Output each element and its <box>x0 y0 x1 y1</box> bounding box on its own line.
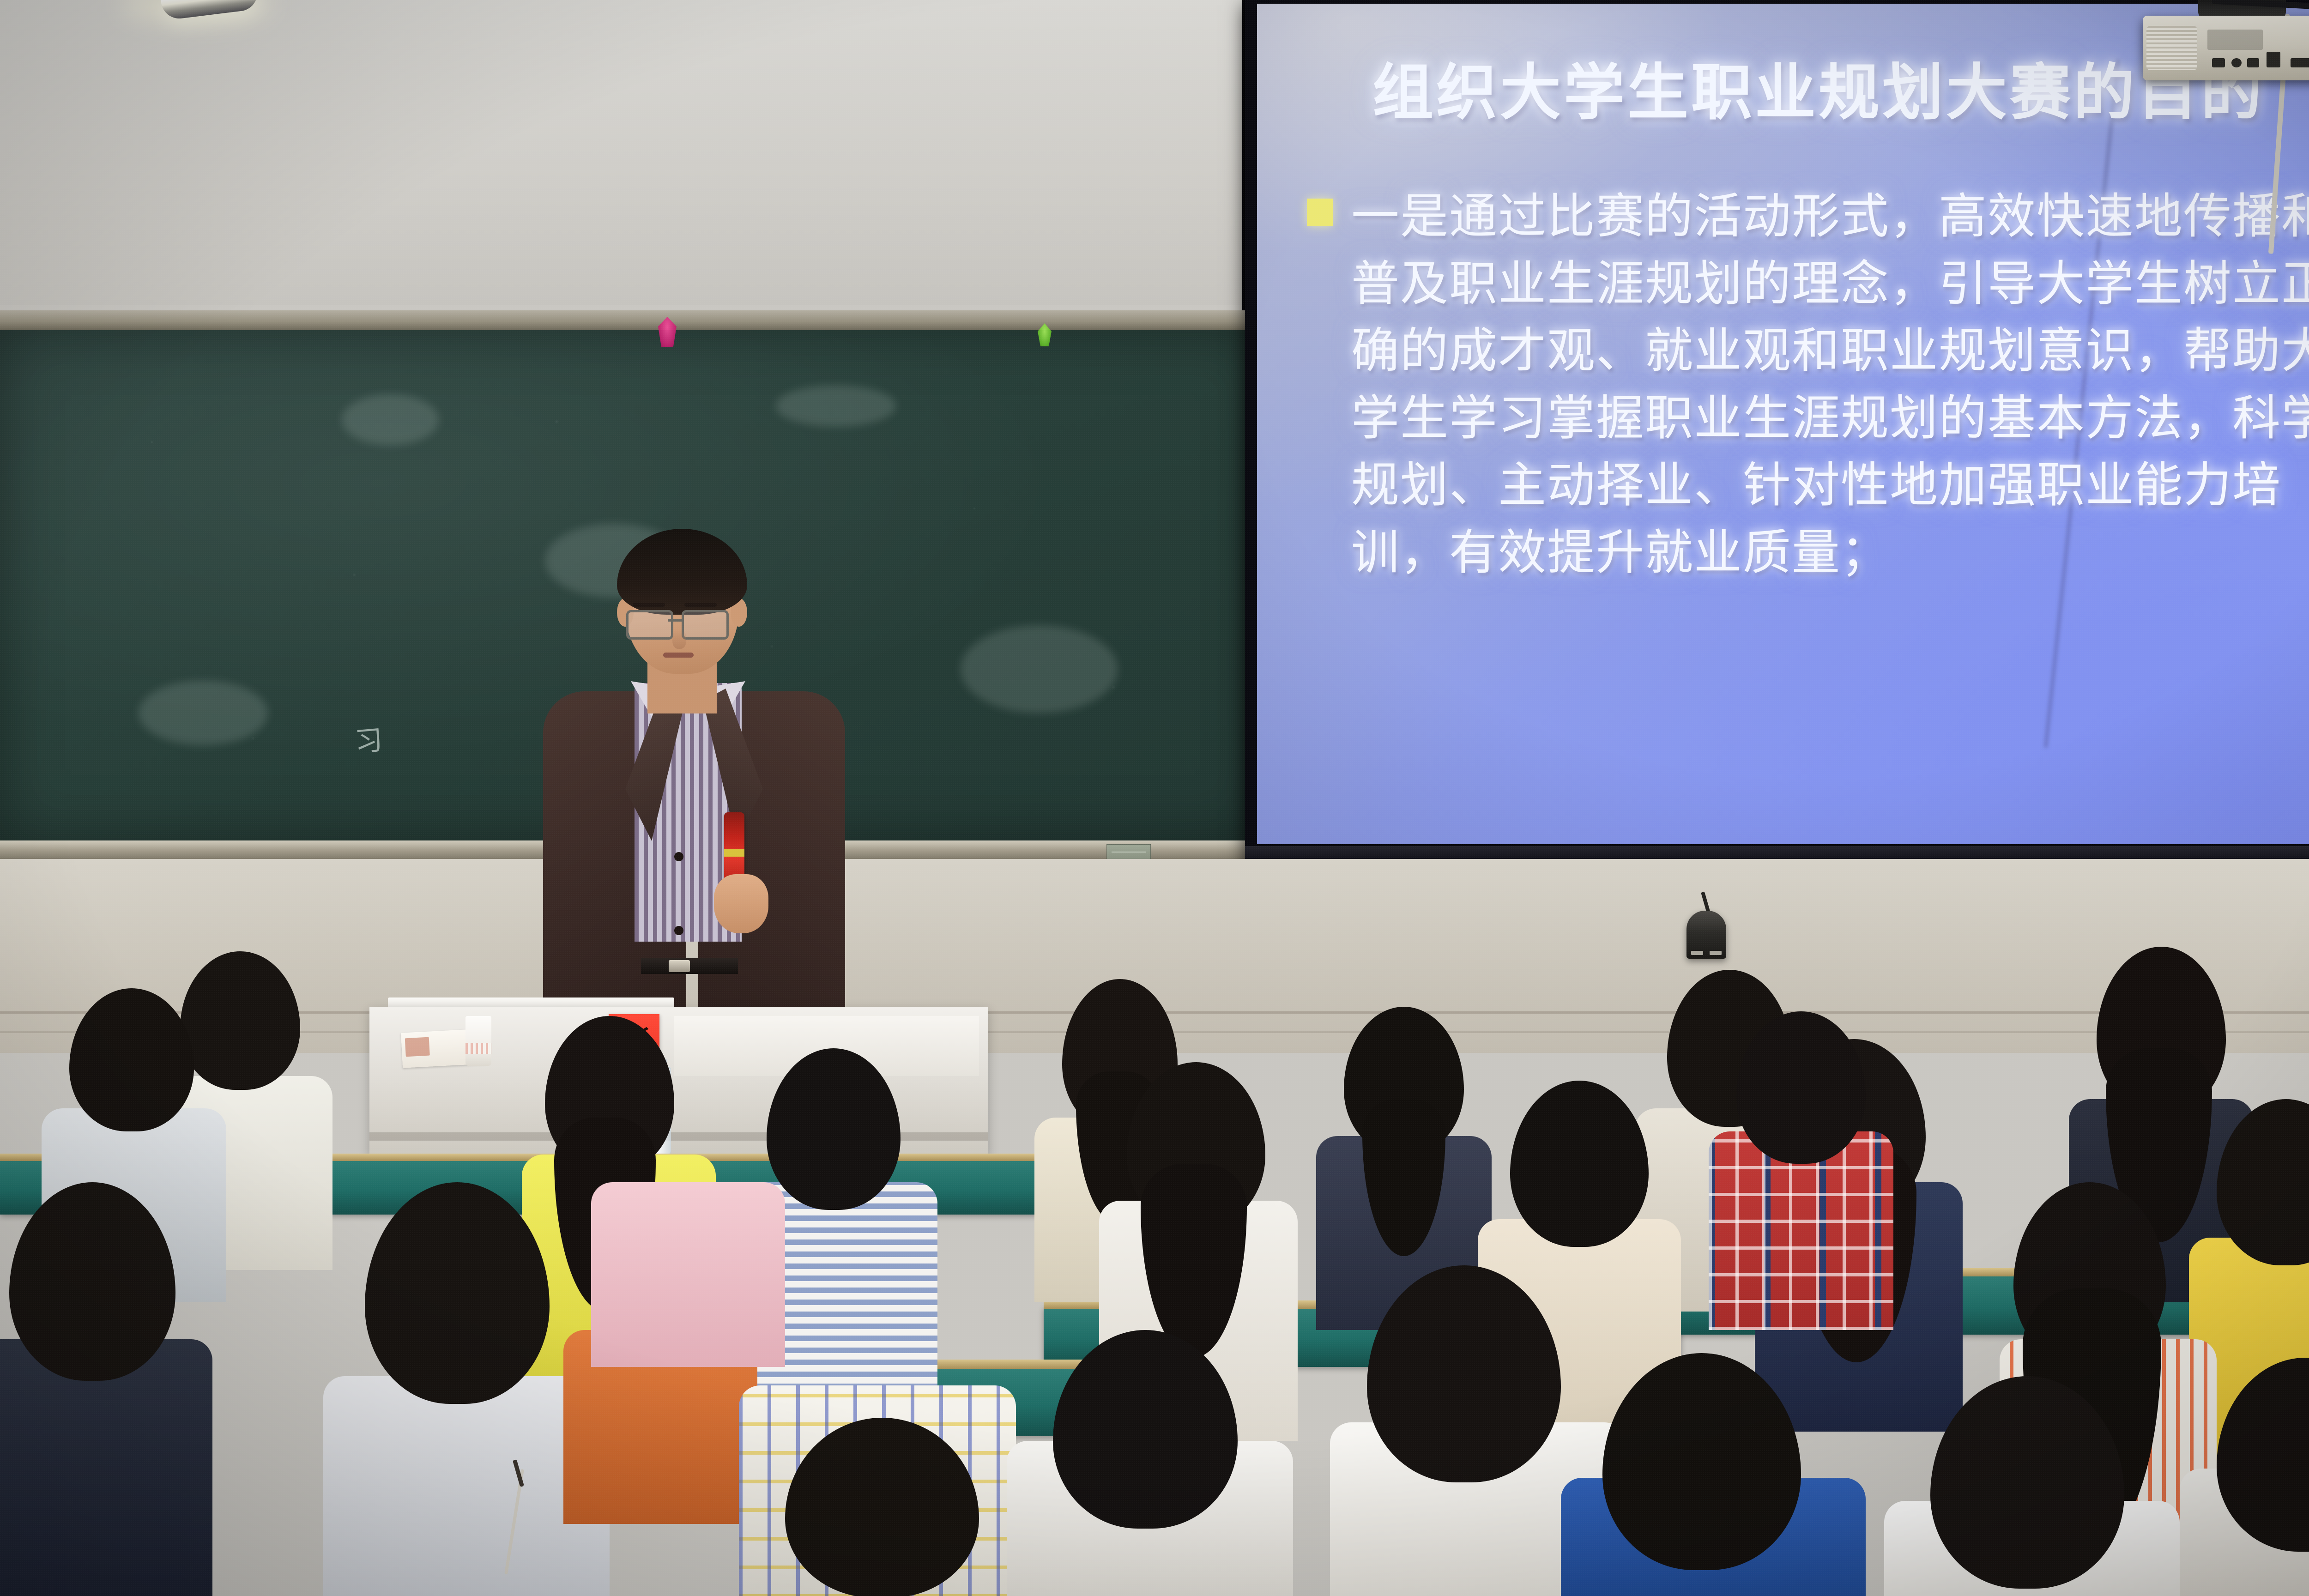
projector-vga-port <box>2267 52 2280 67</box>
glasses-lens-right-icon <box>682 610 729 640</box>
microphone-band <box>724 849 744 857</box>
presenter-eyebrow-left <box>633 603 665 607</box>
presenter-jacket-button <box>674 926 683 935</box>
wall-speaker <box>1686 911 1726 959</box>
presenter-belt-buckle <box>669 960 690 972</box>
projection-screen[interactable]: 组织大学生职业规划大赛的目的 一是通过比赛的活动形式，高效快速地传播和普及职业生… <box>1257 4 2309 844</box>
presenter-eyebrow-right <box>684 603 717 607</box>
projector-port <box>2231 58 2242 67</box>
chalk-smudge <box>961 625 1118 713</box>
slide-bullet-block: 一是通过比赛的活动形式，高效快速地传播和普及职业生涯规划的理念，引导大学生树立正… <box>1307 183 2309 586</box>
chalk-smudge <box>776 385 896 427</box>
projector-port <box>2247 58 2259 67</box>
slide-body-text: 一是通过比赛的活动形式，高效快速地传播和普及职业生涯规划的理念，引导大学生树立正… <box>1351 183 2309 586</box>
presenter-jacket-button <box>674 852 683 861</box>
presenter-hair <box>617 529 747 615</box>
projector-port <box>2212 58 2225 67</box>
upper-wall <box>0 0 1275 305</box>
ceiling-projector <box>2143 16 2309 80</box>
presenter-nose <box>672 629 686 649</box>
presenter-speaker <box>522 529 873 1037</box>
presenter-hand <box>714 874 768 933</box>
projector-port <box>2291 58 2309 67</box>
cup-band <box>465 1043 491 1054</box>
speaker-vent-slot-icon <box>1691 951 1703 955</box>
glasses-bridge-icon <box>668 619 683 622</box>
speaker-vent-slot-icon <box>1710 951 1722 955</box>
student-body <box>591 1182 785 1367</box>
classroom-scene: 习 组织大学生职业规划大赛的目的 一是通过比赛的活动形式，高效快速地传播和普及职… <box>0 0 2309 1596</box>
presenter-mouth <box>663 653 694 658</box>
chalk-handwriting: 习 <box>353 718 384 760</box>
bullet-square-icon <box>1307 199 1333 226</box>
chalk-tray-plate <box>1106 844 1151 861</box>
student-head <box>1510 1081 1649 1247</box>
chalk-smudge <box>139 681 268 745</box>
projector-vent-grille-icon <box>2146 26 2197 70</box>
blackboard-top-rail <box>0 310 1265 331</box>
chalk-smudge <box>342 394 439 445</box>
paper-cup <box>465 1016 491 1066</box>
projector-label-panel <box>2207 30 2263 50</box>
glasses-lens-left-icon <box>626 610 673 640</box>
